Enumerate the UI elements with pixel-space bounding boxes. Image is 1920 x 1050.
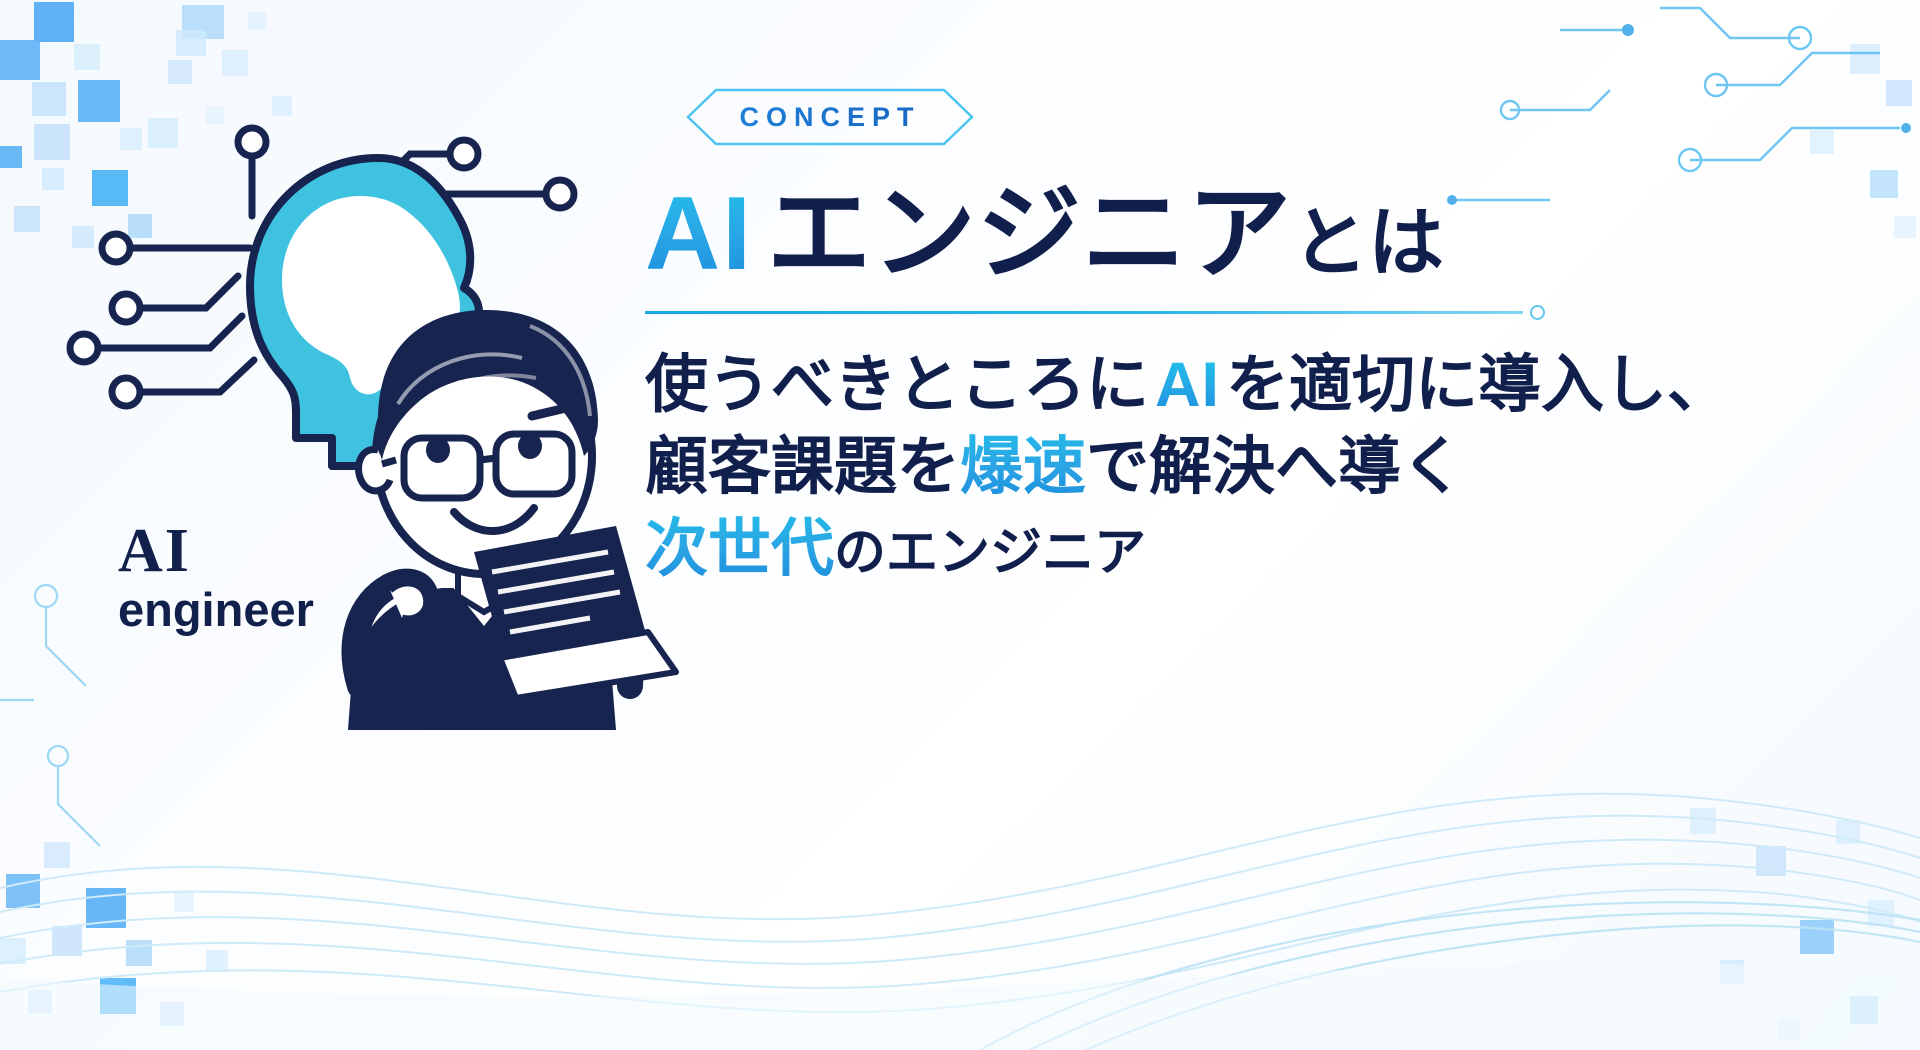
concept-badge: CONCEPT [680,86,980,148]
mosaic-squares-bottom-right [1660,780,1920,1050]
engineer-character-with-laptop [348,310,676,730]
divider-end-node-icon [1530,305,1545,320]
subheading-line-2: 顧客課題を爆速で解決へ導く [645,427,1875,509]
caption-line-2: engineer [118,586,314,633]
sub2-part3: で解決へ導く [1086,432,1464,502]
headline-accent: AI [645,176,767,292]
sub2-part2: 爆速 [960,432,1086,502]
illustration-svg [60,120,680,800]
illustration-caption: AI engineer [118,520,314,633]
sub3-part2: のエンジニア [834,524,1146,582]
divider-line [645,311,1523,314]
page-title: AIエンジニアとは [645,180,1875,289]
caption-line-1: AI [118,520,314,582]
sub1-part2: AI [1149,350,1226,420]
sub1-part3: を適切に導入し、 [1226,350,1730,420]
content-column: CONCEPT AIエンジニアとは 使うべきところにAIを適切に導入し、 顧客課… [645,86,1875,591]
ai-engineer-illustration: AI engineer [60,120,680,800]
subheading-line-1: 使うべきところにAIを適切に導入し、 [645,345,1875,427]
sub3-part1: 次世代 [645,514,834,584]
sub1-part1: 使うべきところに [645,350,1149,420]
mosaic-squares-bottom-left [0,830,360,1050]
title-divider [645,303,1545,323]
slide-canvas: AI engineer CONCEPT AIエンジニアとは 使うべきところに [0,0,1920,1050]
subheading: 使うべきところにAIを適切に導入し、 顧客課題を爆速で解決へ導く 次世代のエンジ… [645,345,1875,591]
headline-tail: とは [1292,201,1444,286]
headline-main: エンジニア [767,176,1292,292]
concept-badge-label: CONCEPT [739,102,920,133]
sub2-part1: 顧客課題を [645,432,960,502]
subheading-line-3: 次世代のエンジニア [645,509,1875,591]
